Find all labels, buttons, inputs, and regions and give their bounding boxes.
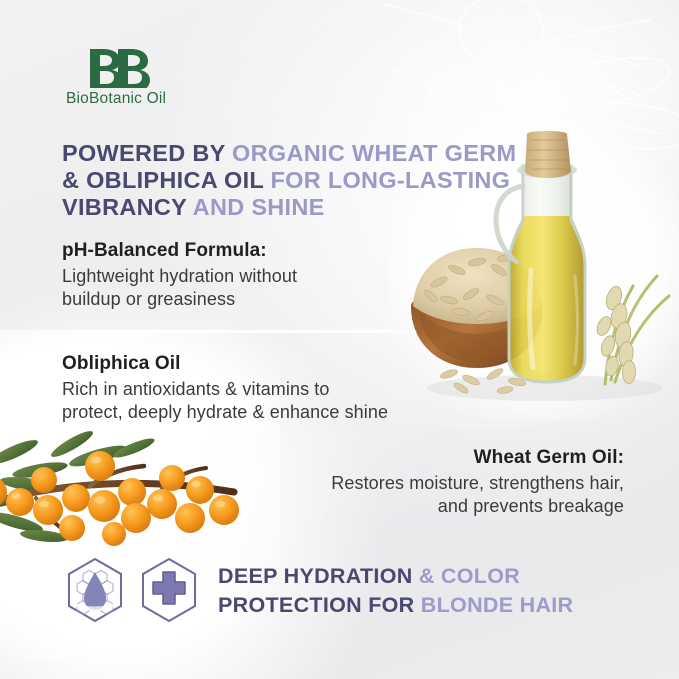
benefit-body-line2: buildup or greasiness [62,288,412,311]
banner-line2-dark: PROTECTION FOR [218,593,421,617]
product-infographic: BioBotanic Oil POWERED BY ORGANIC WHEAT … [0,0,679,679]
brand-logo: BioBotanic Oil [66,46,236,108]
banner-line2-light: BLONDE HAIR [421,593,574,617]
sea-buckthorn-photo [0,418,254,568]
benefit-body-line2: and prevents breakage [224,495,624,518]
banner-line1-light: & COLOR [419,564,520,588]
benefit-wheat-germ-oil: Wheat Germ Oil: Restores moisture, stren… [224,447,624,518]
headline-line3-light: AND SHINE [193,194,325,220]
benefit-heading: Wheat Germ Oil: [224,447,624,469]
benefit-ph-balanced: pH-Balanced Formula: Lightweight hydrati… [62,240,412,311]
headline-line3-dark: VIBRANCY [62,194,193,220]
benefit-body-line1: Rich in antioxidants & vitamins to [62,378,432,401]
protection-plus-hex-badge-icon [138,556,200,624]
banner-line1-dark: DEEP HYDRATION [218,564,419,588]
headline-line2-dark: & OBLIPHICA OIL [62,167,270,193]
headline-line1-dark: POWERED BY [62,140,232,166]
bb-monogram-icon [86,46,160,88]
benefit-obliphica-oil: Obliphica Oil Rich in antioxidants & vit… [62,353,432,424]
benefit-heading: pH-Balanced Formula: [62,240,412,262]
benefit-body-line2: protect, deeply hydrate & enhance shine [62,401,432,424]
benefit-body-line1: Lightweight hydration without [62,265,412,288]
hydration-droplet-hex-badge-icon [64,556,126,624]
brand-name: BioBotanic Oil [66,90,236,108]
section-divider [62,330,417,333]
bottom-banner: DEEP HYDRATION & COLOR PROTECTION FOR BL… [218,562,618,620]
badge-group [64,556,200,624]
benefit-heading: Obliphica Oil [62,353,432,375]
benefit-body-line1: Restores moisture, strengthens hair, [224,472,624,495]
oil-cruet-and-grain-photo [405,130,673,405]
